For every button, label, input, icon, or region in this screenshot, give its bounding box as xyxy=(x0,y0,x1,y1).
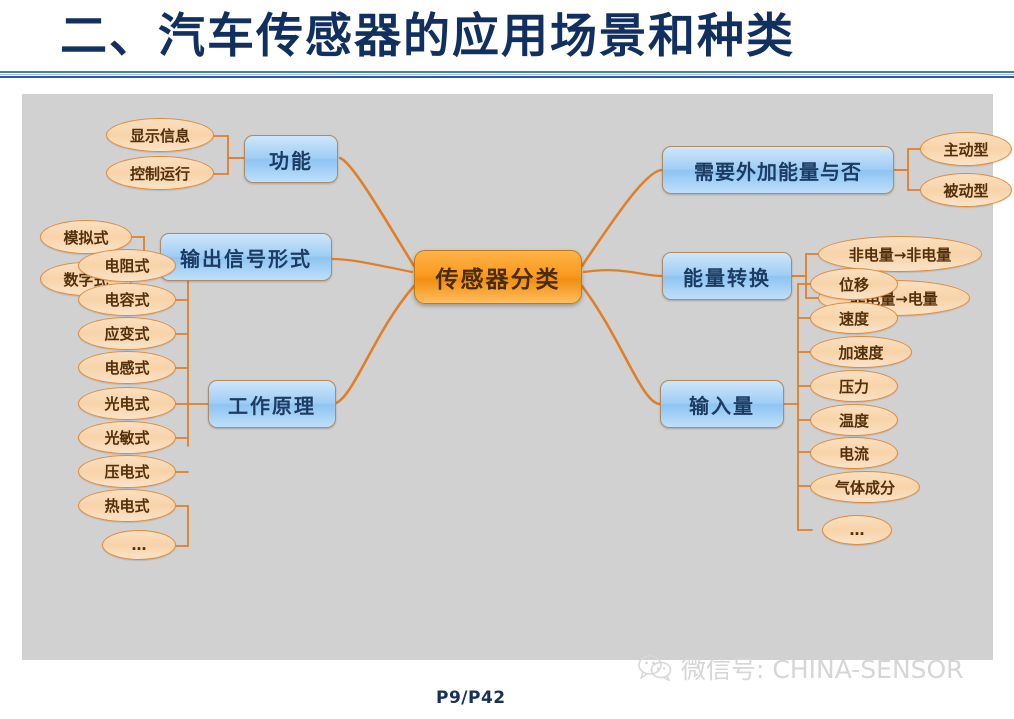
branch-node-output-signal-form[interactable]: 输出信号形式 xyxy=(160,233,332,281)
branch-node-function[interactable]: 功能 xyxy=(244,135,338,183)
leaf-velocity[interactable]: 速度 xyxy=(810,302,898,334)
leaf-piezoelectric-type[interactable]: 压电式 xyxy=(78,455,176,488)
leaf-strain-type[interactable]: 应变式 xyxy=(78,317,176,350)
leaf-displacement[interactable]: 位移 xyxy=(810,268,898,300)
leaf-display-info[interactable]: 显示信息 xyxy=(106,118,214,152)
wechat-icon xyxy=(638,655,672,681)
leaf-gas-composition[interactable]: 气体成分 xyxy=(810,471,920,503)
leaf-more-principles[interactable]: … xyxy=(102,530,176,560)
leaf-current[interactable]: 电流 xyxy=(810,437,898,469)
page-marker: P9/P42 xyxy=(436,688,506,708)
leaf-capacitive-type[interactable]: 电容式 xyxy=(78,283,176,316)
leaf-photoelectric-type[interactable]: 光电式 xyxy=(78,387,176,420)
watermark: 微信号: CHINA-SENSOR xyxy=(638,650,964,686)
branch-node-working-principle[interactable]: 工作原理 xyxy=(208,380,336,428)
leaf-temperature[interactable]: 温度 xyxy=(810,404,898,436)
leaf-nonelectric-to-nonelectric[interactable]: 非电量→非电量 xyxy=(818,236,982,272)
leaf-inductive-type[interactable]: 电感式 xyxy=(78,351,176,384)
slide-title-bar: 二、汽车传感器的应用场景和种类 xyxy=(0,0,1014,72)
page-title: 二、汽车传感器的应用场景和种类 xyxy=(60,13,795,60)
leaf-active-type[interactable]: 主动型 xyxy=(920,132,1012,166)
leaf-passive-type[interactable]: 被动型 xyxy=(920,173,1012,207)
divider-line-top xyxy=(0,71,1014,73)
branch-node-energy-conversion[interactable]: 能量转换 xyxy=(662,252,792,300)
leaf-resistive-type[interactable]: 电阻式 xyxy=(78,249,176,282)
mindmap-panel: 传感器分类 功能 显示信息 控制运行 输出信号形式 模拟式 数字式 工作原理 电… xyxy=(22,94,993,660)
leaf-pyroelectric-type[interactable]: 热电式 xyxy=(78,489,176,522)
leaf-photosensitive-type[interactable]: 光敏式 xyxy=(78,421,176,454)
branch-node-external-energy-required[interactable]: 需要外加能量与否 xyxy=(662,146,894,194)
watermark-text: 微信号: CHINA-SENSOR xyxy=(681,650,964,686)
title-divider xyxy=(0,71,1014,80)
leaf-more-inputs[interactable]: … xyxy=(822,515,892,545)
divider-line-bottom xyxy=(0,76,1014,78)
leaf-pressure[interactable]: 压力 xyxy=(810,370,898,402)
leaf-acceleration[interactable]: 加速度 xyxy=(810,336,912,368)
branch-node-input-quantity[interactable]: 输入量 xyxy=(660,380,784,428)
divider-line-mid xyxy=(0,74,1014,75)
leaf-control-operation[interactable]: 控制运行 xyxy=(106,156,214,190)
mindmap-center-node[interactable]: 传感器分类 xyxy=(414,250,582,304)
